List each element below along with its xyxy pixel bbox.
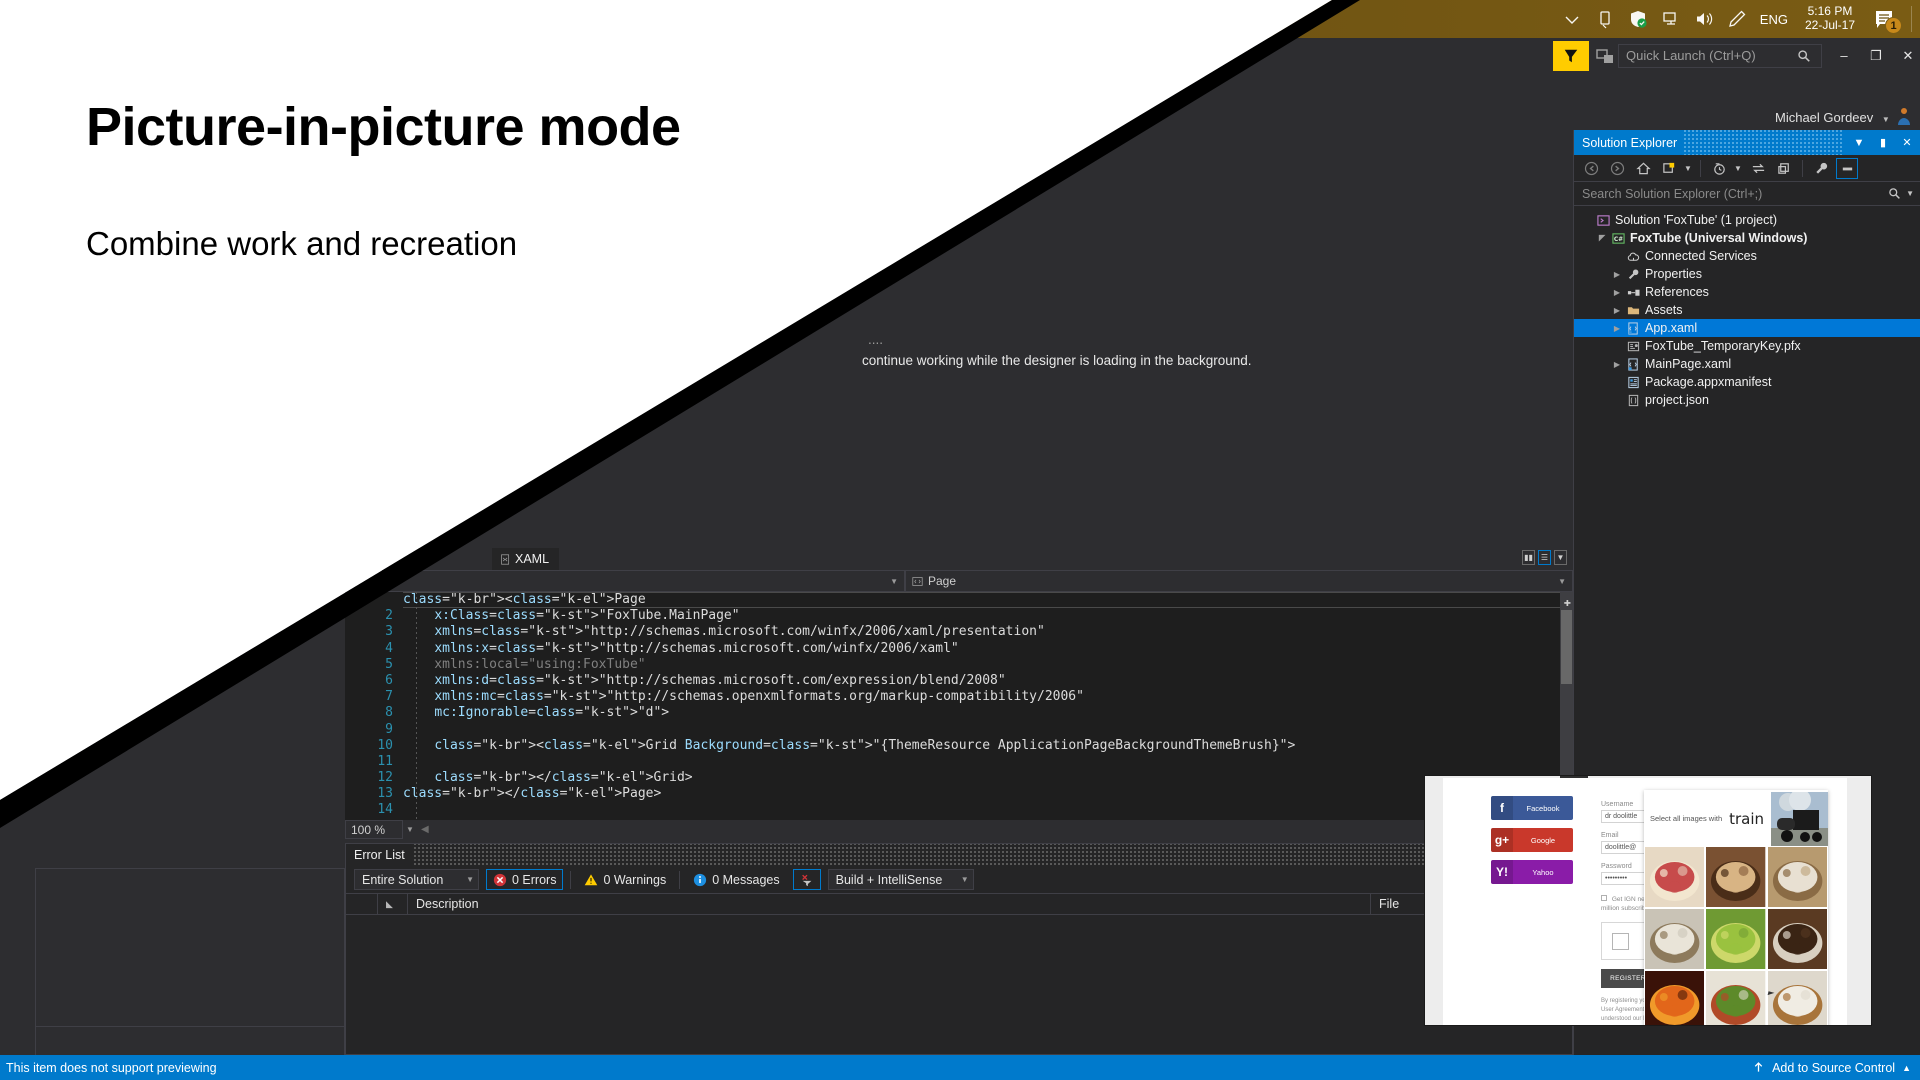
- page-subtitle: Combine work and recreation: [86, 225, 517, 263]
- tree-item-label: Connected Services: [1645, 249, 1757, 263]
- error-list-toolbar: Entire Solution ▼ 0 Errors: [346, 866, 1572, 893]
- code-line: [403, 754, 1295, 770]
- notification-center-icon[interactable]: 1: [1872, 7, 1898, 31]
- filter-button[interactable]: [793, 869, 821, 890]
- drag-dots: [413, 844, 1566, 866]
- restore-button[interactable]: ❐: [1862, 46, 1890, 66]
- error-list-title: Error List: [354, 848, 405, 862]
- page-title: Picture-in-picture mode: [86, 96, 681, 158]
- tree-item-label: Solution 'FoxTube' (1 project): [1615, 213, 1777, 227]
- recaptcha-checkbox-icon[interactable]: [1612, 933, 1629, 950]
- chevron-down-icon: ▼: [953, 875, 969, 884]
- line-number: 4: [345, 641, 403, 657]
- expander-icon[interactable]: ▶: [1610, 270, 1624, 279]
- mixed-salad-photo[interactable]: [1706, 971, 1765, 1025]
- scope-value: Entire Solution: [362, 873, 443, 887]
- clock-date: 22-Jul-17: [1805, 19, 1855, 33]
- captcha-dialog: Select all images with train: [1644, 790, 1828, 1025]
- avatar[interactable]: [1896, 106, 1912, 126]
- warnings-filter-button[interactable]: 0 Warnings: [578, 869, 672, 890]
- code-line: xmlns:d=class="k-st">"http://schemas.mic…: [403, 673, 1295, 689]
- connected-services-icon: [1624, 250, 1642, 263]
- usb-eject-icon[interactable]: [1595, 9, 1615, 29]
- pen-icon[interactable]: [1727, 9, 1747, 29]
- tree-item-label: MainPage.xaml: [1645, 357, 1731, 371]
- type-dropdown[interactable]: Page ▼: [905, 570, 1573, 592]
- warnings-count: 0 Warnings: [603, 873, 666, 887]
- tree-item-foxtube-temporarykey-pfx[interactable]: FoxTube_TemporaryKey.pfx: [1574, 337, 1920, 355]
- tree-item-label: Properties: [1645, 267, 1702, 281]
- pancakes-and-coffee-photo[interactable]: [1768, 847, 1827, 907]
- google-login-label: Google: [1513, 836, 1573, 845]
- code-line: class="k-br"><class="k-el">Grid Backgrou…: [403, 738, 1295, 754]
- designer-split-controls: ▮▮ ☰ ▼: [1522, 550, 1567, 565]
- info-icon: [693, 873, 707, 887]
- tree-item-label: App.xaml: [1645, 321, 1697, 335]
- svg-text:C#: C#: [1613, 235, 1622, 242]
- minimize-button[interactable]: –: [1830, 46, 1858, 66]
- status-message: This item does not support previewing: [0, 1061, 217, 1075]
- tab-xaml-label: XAML: [515, 552, 549, 566]
- user-name: Michael Gordeev: [1775, 110, 1873, 125]
- errors-filter-button[interactable]: 0 Errors: [486, 869, 563, 890]
- orange-peppers-bowl-photo[interactable]: [1645, 971, 1704, 1025]
- code-brackets-icon: [912, 576, 923, 587]
- zoom-value: 100 %: [351, 823, 385, 837]
- tree-item-package-appxmanifest[interactable]: Package.appxmanifest: [1574, 373, 1920, 391]
- json-file-icon: [1624, 394, 1642, 407]
- line-number: 12: [345, 770, 403, 786]
- sort-icon: ◣: [386, 899, 393, 910]
- tree-item-connected-services[interactable]: Connected Services: [1574, 247, 1920, 265]
- expander-icon[interactable]: ▶: [1610, 306, 1624, 315]
- xaml-file-icon: [500, 554, 511, 565]
- editor-navigation-bar: ▼ Page ▼: [345, 570, 1573, 592]
- captcha-tile-grid: [1644, 847, 1828, 1025]
- google-icon: g+: [1491, 828, 1513, 852]
- user-account-menu[interactable]: Michael Gordeev ▼: [1775, 110, 1890, 125]
- send-feedback-icon[interactable]: [1553, 41, 1589, 71]
- home-icon[interactable]: [1632, 158, 1654, 179]
- build-filter-dropdown[interactable]: Build + IntelliSense ▼: [828, 869, 974, 890]
- column-header-description[interactable]: Description: [408, 893, 1371, 915]
- tree-item-label: Assets: [1645, 303, 1683, 317]
- notification-count-badge: 1: [1885, 17, 1902, 34]
- solution-explorer-search[interactable]: Search Solution Explorer (Ctrl+;) ▼: [1574, 182, 1920, 206]
- toolbar-divider: [679, 871, 680, 889]
- code-line: xmlns:local="using:FoxTube": [403, 657, 1295, 673]
- yahoo-login-label: Yahoo: [1513, 868, 1573, 877]
- coffee-beans-cup-photo[interactable]: [1768, 909, 1827, 969]
- tree-item-label: FoxTube (Universal Windows): [1630, 231, 1807, 245]
- scroll-left-icon[interactable]: ◀: [417, 824, 429, 835]
- scrollbar-thumb[interactable]: [1561, 610, 1572, 684]
- designer-pane-secondary: [35, 1026, 345, 1056]
- collapse-all-icon[interactable]: [1773, 158, 1795, 179]
- error-list-title-bar: Error List: [346, 844, 1572, 866]
- solution-explorer-toolbar: ▼ ▼: [1574, 155, 1920, 182]
- expander-icon[interactable]: ▶: [1610, 360, 1624, 369]
- build-filter-value: Build + IntelliSense: [836, 873, 943, 887]
- split-editor-icon[interactable]: ✚: [1564, 594, 1571, 610]
- designer-pane: [35, 868, 345, 1040]
- toolbar-divider: [1802, 160, 1803, 177]
- line-number: 5: [345, 657, 403, 673]
- facebook-login-button[interactable]: f Facebook: [1491, 796, 1573, 820]
- xaml-code-editor[interactable]: 234567891011121314 class="k-br"><class="…: [345, 592, 1573, 820]
- tree-item-label: FoxTube_TemporaryKey.pfx: [1645, 339, 1801, 353]
- close-button[interactable]: ✕: [1894, 46, 1920, 66]
- type-dropdown-value: Page: [928, 574, 956, 588]
- pending-changes-icon[interactable]: [1708, 158, 1730, 179]
- system-tray: ENG 5:16 PM 22-Jul-17 1: [1562, 0, 1912, 38]
- chevron-down-icon[interactable]: ▼: [403, 825, 417, 834]
- references-icon: [1624, 286, 1642, 299]
- checkbox-icon[interactable]: [1601, 895, 1607, 901]
- refresh-icon[interactable]: [1747, 158, 1769, 179]
- chevron-up-icon[interactable]: [1562, 9, 1582, 29]
- code-line: xmlns=class="k-st">"http://schemas.micro…: [403, 624, 1295, 640]
- tree-item-project-json[interactable]: project.json: [1574, 391, 1920, 409]
- captcha-target: train: [1722, 810, 1764, 828]
- vertical-split-icon[interactable]: ▮▮: [1522, 550, 1535, 565]
- column-header-blank[interactable]: [346, 893, 378, 915]
- yahoo-login-button[interactable]: Y! Yahoo: [1491, 860, 1573, 884]
- error-list-panel: Error List Entire Solution ▼ 0 Errors: [345, 843, 1573, 1055]
- code-line: class="k-br"></class="k-el">Grid>: [403, 770, 1295, 786]
- chevron-down-icon[interactable]: ▼: [1734, 164, 1743, 173]
- clock[interactable]: 5:16 PM 22-Jul-17: [1801, 5, 1859, 33]
- tree-item-solution-foxtube-1-project[interactable]: Solution 'FoxTube' (1 project): [1574, 211, 1920, 229]
- line-number: 10: [345, 738, 403, 754]
- line-number: 11: [345, 754, 403, 770]
- tree-item-references[interactable]: ▶References: [1574, 283, 1920, 301]
- clock-time: 5:16 PM: [1805, 5, 1855, 19]
- toolbar-divider: [570, 871, 571, 889]
- facebook-login-label: Facebook: [1513, 804, 1573, 813]
- tab-xaml[interactable]: XAML: [492, 548, 559, 570]
- coffee-and-donut-photo[interactable]: [1768, 971, 1827, 1025]
- chevron-down-icon: ▼: [1558, 577, 1566, 586]
- designer-loading-message: continue working while the designer is l…: [862, 353, 1252, 368]
- picture-in-picture-overlay[interactable]: ▼ f Facebook g+ Google Y! Yahoo Username…: [1425, 776, 1871, 1025]
- error-list-header-row: ◣ Description File: [346, 893, 1572, 915]
- sync-with-active-document-icon[interactable]: [1658, 158, 1680, 179]
- breakfast-plate-photo[interactable]: [1645, 909, 1704, 969]
- properties-wrench-icon: [1624, 268, 1642, 281]
- folder-icon: [1624, 304, 1642, 317]
- solution-icon: [1594, 214, 1612, 227]
- solution-explorer-title: Solution Explorer: [1582, 136, 1677, 150]
- errors-count: 0 Errors: [512, 873, 556, 887]
- tray-divider: [1911, 6, 1912, 32]
- line-number: 8: [345, 705, 403, 721]
- expander-icon[interactable]: ▶: [1610, 324, 1624, 333]
- toolbar-divider: [1700, 160, 1701, 177]
- captcha-header: Select all images with train: [1644, 790, 1828, 847]
- line-number: 13: [345, 786, 403, 802]
- add-to-source-control-button[interactable]: Add to Source Control: [1772, 1061, 1895, 1075]
- filter-icon: [800, 873, 814, 887]
- security-shield-icon[interactable]: [1628, 9, 1648, 29]
- certificate-icon: [1624, 340, 1642, 353]
- solution-explorer-title-bar: Solution Explorer ▼ ▮ ✕: [1574, 130, 1920, 155]
- volume-icon[interactable]: [1694, 9, 1714, 29]
- designer-loading-dots: ....: [868, 332, 883, 347]
- quick-launch-placeholder: Quick Launch (Ctrl+Q): [1626, 48, 1756, 63]
- code-content[interactable]: class="k-br"><class="k-el">Page x:Class=…: [403, 592, 1295, 819]
- strawberry-cake-photo[interactable]: [1645, 847, 1704, 907]
- google-login-button[interactable]: g+ Google: [1491, 828, 1573, 852]
- warning-icon: [584, 873, 598, 887]
- code-line: xmlns:mc=class="k-st">"http://schemas.op…: [403, 689, 1295, 705]
- error-icon: [493, 873, 507, 887]
- panel-dropdown-icon[interactable]: ▼: [1850, 137, 1868, 149]
- line-number: [345, 592, 403, 608]
- search-placeholder: Search Solution Explorer (Ctrl+;): [1582, 187, 1762, 201]
- pin-icon[interactable]: ▮: [1874, 136, 1892, 149]
- horizontal-split-icon[interactable]: ☰: [1538, 550, 1551, 565]
- upload-arrow-icon: [1752, 1061, 1765, 1074]
- code-line: [403, 722, 1295, 738]
- drag-dots: [1683, 130, 1844, 155]
- tree-item-label: project.json: [1645, 393, 1709, 407]
- search-icon[interactable]: [1797, 49, 1811, 63]
- tree-item-foxtube-universal-windows[interactable]: ◢C#FoxTube (Universal Windows): [1574, 229, 1920, 247]
- chevron-up-icon[interactable]: ▲: [1902, 1063, 1911, 1073]
- iced-drink-photo[interactable]: [1706, 847, 1765, 907]
- code-line: [403, 802, 1295, 818]
- feedback-smiley-icon[interactable]: [1595, 47, 1617, 67]
- code-line: mc:Ignorable=class="k-st">"d">: [403, 705, 1295, 721]
- tree-item-app-xaml[interactable]: ▶App.xaml: [1574, 319, 1920, 337]
- yahoo-icon: Y!: [1491, 860, 1513, 884]
- facebook-icon: f: [1491, 796, 1513, 820]
- manifest-icon: [1624, 376, 1642, 389]
- captcha-prompt: Select all images with: [1644, 814, 1722, 823]
- messages-filter-button[interactable]: 0 Messages: [687, 869, 785, 890]
- line-number: 2: [345, 608, 403, 624]
- tree-item-properties[interactable]: ▶Properties: [1574, 265, 1920, 283]
- column-header-sort[interactable]: ◣: [378, 893, 408, 915]
- properties-icon[interactable]: [1810, 158, 1832, 179]
- expander-icon[interactable]: ▶: [1610, 288, 1624, 297]
- network-icon[interactable]: [1661, 9, 1681, 29]
- chevron-down-icon[interactable]: ▼: [1901, 189, 1914, 198]
- editor-tab-strip: XAML ▮▮ ☰ ▼: [345, 548, 1573, 570]
- chevron-down-icon: ▼: [890, 577, 898, 586]
- member-dropdown[interactable]: ▼: [345, 570, 905, 592]
- line-number: 7: [345, 689, 403, 705]
- tree-item-assets[interactable]: ▶Assets: [1574, 301, 1920, 319]
- forward-icon[interactable]: [1606, 158, 1628, 179]
- green-salad-photo[interactable]: [1706, 909, 1765, 969]
- quick-launch-input[interactable]: Quick Launch (Ctrl+Q): [1618, 44, 1822, 68]
- close-icon[interactable]: ✕: [1898, 136, 1916, 149]
- tree-item-label: References: [1645, 285, 1709, 299]
- collapse-pane-icon[interactable]: ▼: [1554, 550, 1567, 565]
- chevron-down-icon[interactable]: ▼: [1684, 164, 1693, 173]
- line-number: 14: [345, 802, 403, 818]
- code-line: x:Class=class="k-st">"FoxTube.MainPage": [403, 608, 1295, 624]
- messages-count: 0 Messages: [712, 873, 779, 887]
- xaml-file-icon: [1624, 358, 1642, 371]
- tree-item-label: Package.appxmanifest: [1645, 375, 1771, 389]
- line-number: 9: [345, 722, 403, 738]
- zoom-level[interactable]: 100 %: [345, 820, 403, 839]
- back-icon[interactable]: [1580, 158, 1602, 179]
- language-indicator[interactable]: ENG: [1760, 12, 1788, 27]
- status-bar: This item does not support previewing Ad…: [0, 1055, 1920, 1080]
- code-line: xmlns:x=class="k-st">"http://schemas.mic…: [403, 641, 1295, 657]
- line-number: 6: [345, 673, 403, 689]
- expander-icon[interactable]: ◢: [1595, 234, 1609, 243]
- preview-selected-items-icon[interactable]: [1836, 158, 1858, 179]
- solution-tree: Solution 'FoxTube' (1 project)◢C#FoxTube…: [1574, 206, 1920, 409]
- chevron-down-icon: ▼: [458, 875, 474, 884]
- editor-zoom-bar: 100 % ▼ ◀: [345, 820, 1573, 839]
- scope-dropdown[interactable]: Entire Solution ▼: [354, 869, 479, 890]
- csharp-project-icon: C#: [1609, 232, 1627, 245]
- steam-train-photo: [1771, 792, 1828, 846]
- code-line: class="k-br"><class="k-el">Page: [403, 592, 1295, 608]
- code-line: class="k-br"></class="k-el">Page>: [403, 786, 1295, 802]
- line-number-gutter: 234567891011121314: [345, 592, 403, 820]
- pip-web-page: f Facebook g+ Google Y! Yahoo Username d…: [1443, 778, 1847, 1025]
- xaml-file-icon: [1624, 322, 1642, 335]
- line-number: 3: [345, 624, 403, 640]
- search-icon[interactable]: [1888, 187, 1901, 200]
- tree-item-mainpage-xaml[interactable]: ▶MainPage.xaml: [1574, 355, 1920, 373]
- chevron-down-icon: ▼: [1877, 115, 1890, 124]
